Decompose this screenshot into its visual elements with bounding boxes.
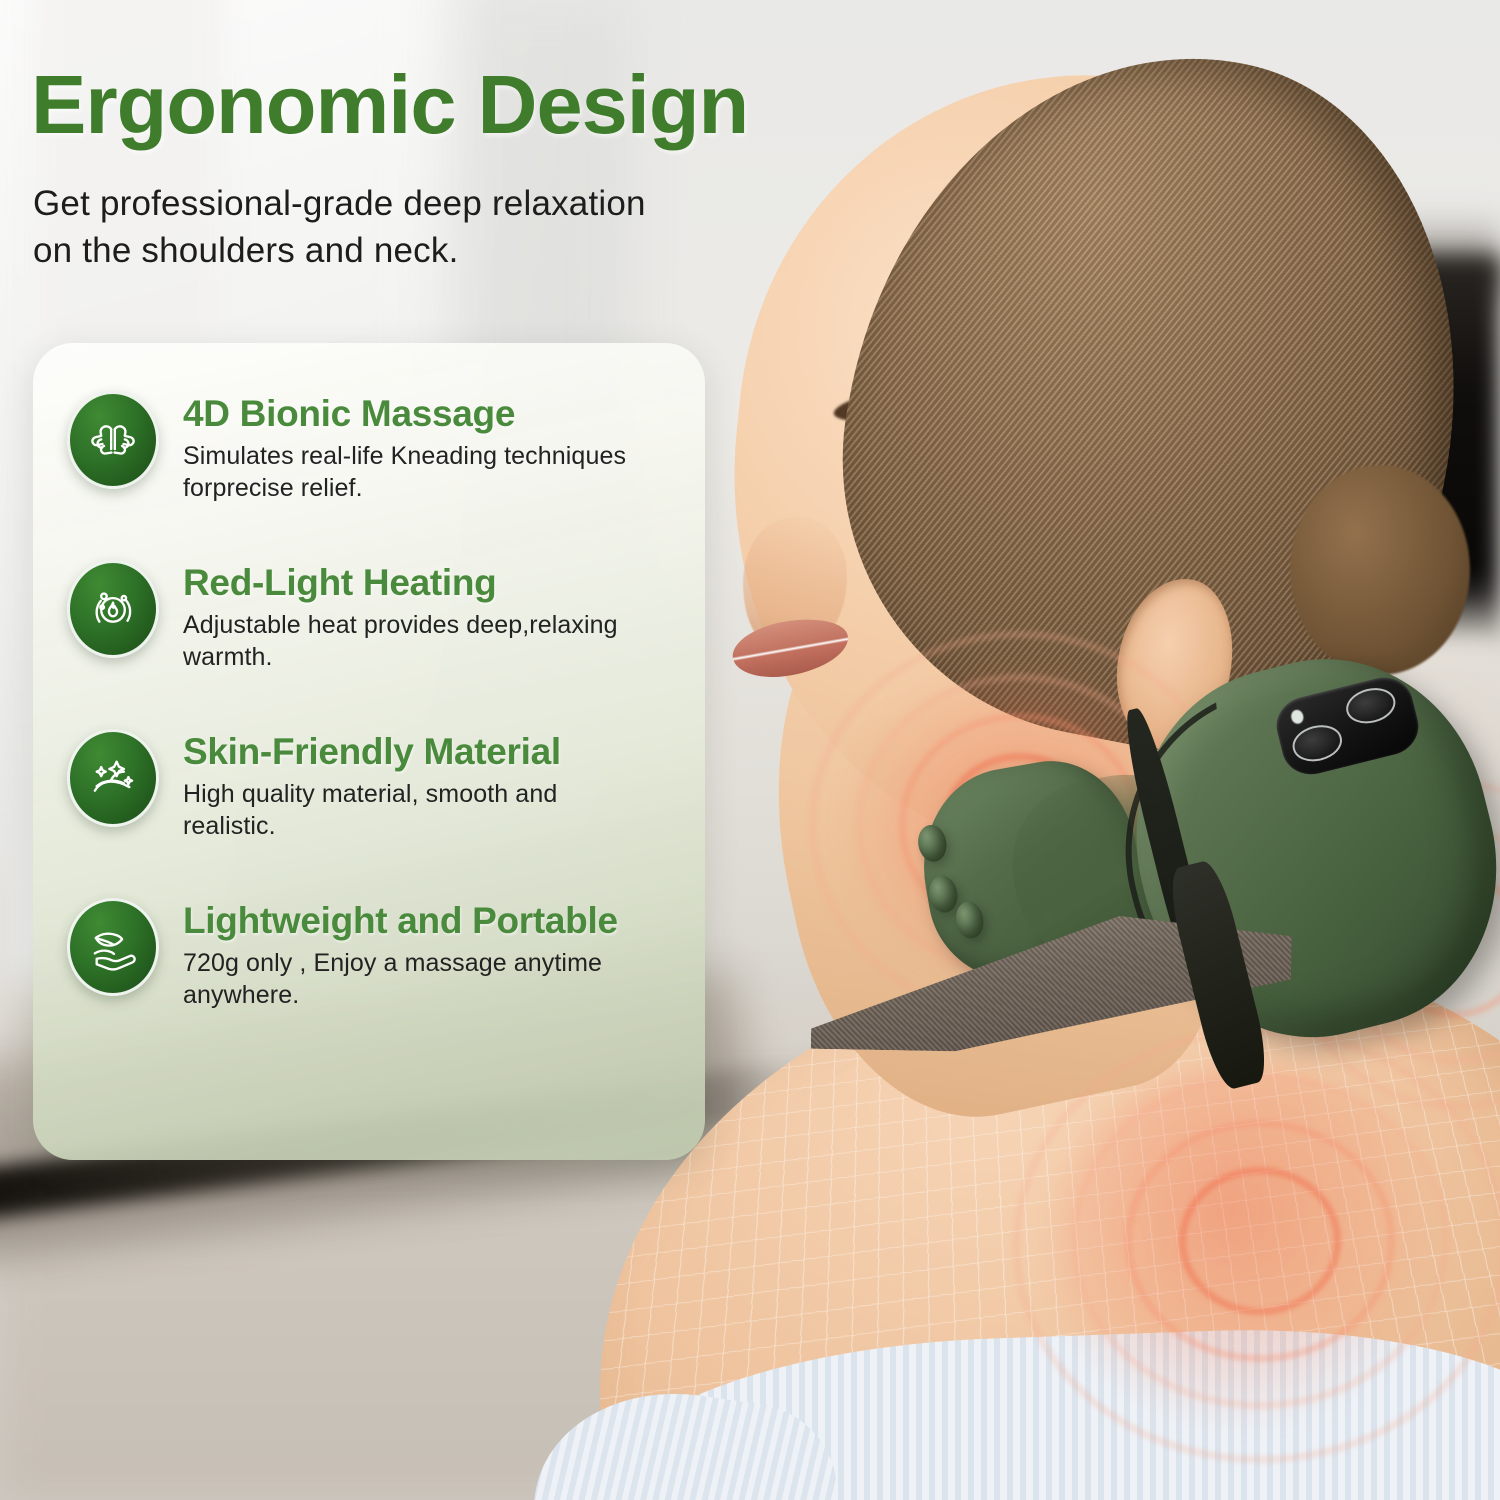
- feature-item-lightweight-and-portable: Lightweight and Portable 720g only , Enj…: [67, 898, 671, 1011]
- feature-title: Lightweight and Portable: [183, 900, 618, 942]
- hand-leaf-icon: [67, 898, 159, 996]
- page-subtitle: Get professional-grade deep relaxation o…: [33, 181, 646, 275]
- feature-title: Red-Light Heating: [183, 562, 618, 604]
- heat-level-button[interactable]: [1342, 683, 1399, 728]
- massage-node: [916, 823, 950, 864]
- feature-description: Adjustable heat provides deep,relaxing w…: [183, 609, 618, 673]
- page-title: Ergonomic Design: [31, 63, 748, 146]
- feature-item-red-light-heating: Red-Light Heating Adjustable heat provid…: [67, 560, 671, 673]
- feature-item-skin-friendly-material: Skin-Friendly Material High quality mate…: [67, 729, 671, 842]
- feature-item-4d-bionic-massage: 4D Bionic Massage Simulates real-life Kn…: [67, 391, 671, 504]
- feature-description: 720g only , Enjoy a massage anytime anyw…: [183, 947, 618, 1011]
- flame-heat-icon: [67, 560, 159, 658]
- feature-title: Skin-Friendly Material: [183, 731, 653, 773]
- kneading-hands-icon: [67, 391, 159, 489]
- led-indicator: [1289, 708, 1304, 725]
- feature-list-card: 4D Bionic Massage Simulates real-life Kn…: [33, 343, 705, 1160]
- feature-description: High quality material, smooth and realis…: [183, 778, 653, 842]
- massager-device: [900, 645, 1500, 1245]
- sparkle-skin-icon: [67, 729, 159, 827]
- model-hair-bun: [1290, 465, 1470, 675]
- massage-node: [953, 900, 987, 941]
- power-mode-button[interactable]: [1289, 720, 1346, 765]
- feature-title: 4D Bionic Massage: [183, 393, 626, 435]
- feature-description: Simulates real-life Kneading techniques …: [183, 440, 626, 504]
- massage-node: [927, 874, 961, 915]
